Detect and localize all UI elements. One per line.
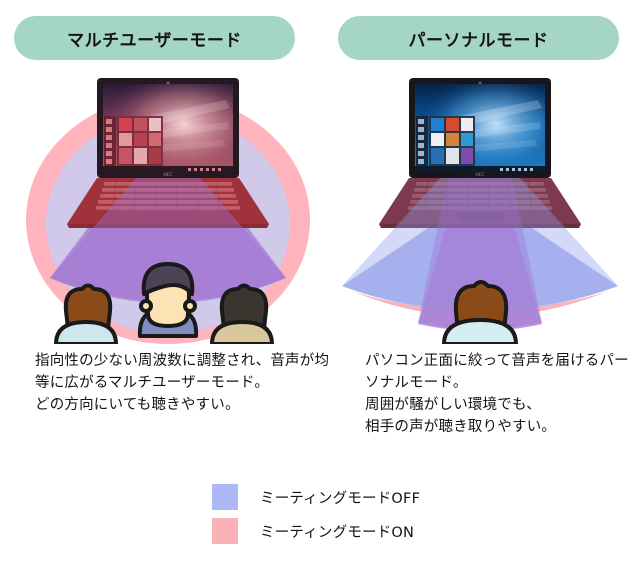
legend-swatch-off (212, 484, 238, 510)
listener-center (140, 264, 196, 336)
mode-pill-personal: パーソナルモード (338, 16, 619, 60)
legend-label-on: ミーティングモードON (260, 521, 414, 542)
legend: ミーティングモードOFF ミーティングモードON (0, 480, 630, 548)
illustration-personal: NEC (330, 72, 630, 344)
laptop-screen (103, 84, 233, 172)
description-personal: パソコン正面に絞って音声を届けるパーソナルモード。 周囲が騒がしい環境でも、 相… (365, 350, 630, 438)
legend-swatch-on (212, 518, 238, 544)
laptop-brand-label: NEC (163, 172, 172, 178)
mode-pill-personal-label: パーソナルモード (409, 26, 549, 51)
legend-label-off: ミーティングモードOFF (260, 487, 420, 508)
description-multiuser: 指向性の少ない周波数に調整され、音声が均等に広がるマルチユーザーモード。 どの方… (35, 350, 335, 416)
legend-item-off: ミーティングモードOFF (0, 480, 630, 514)
laptop-screen (415, 84, 545, 172)
legend-item-on: ミーティングモードON (0, 514, 630, 548)
mode-pill-multiuser-label: マルチユーザーモード (67, 26, 242, 51)
illustration-multiuser: NEC (18, 72, 318, 344)
mode-heading-row: マルチユーザーモード パーソナルモード (0, 16, 630, 64)
laptop-brand-label: NEC (475, 172, 484, 178)
mode-pill-multiuser: マルチユーザーモード (14, 16, 295, 60)
